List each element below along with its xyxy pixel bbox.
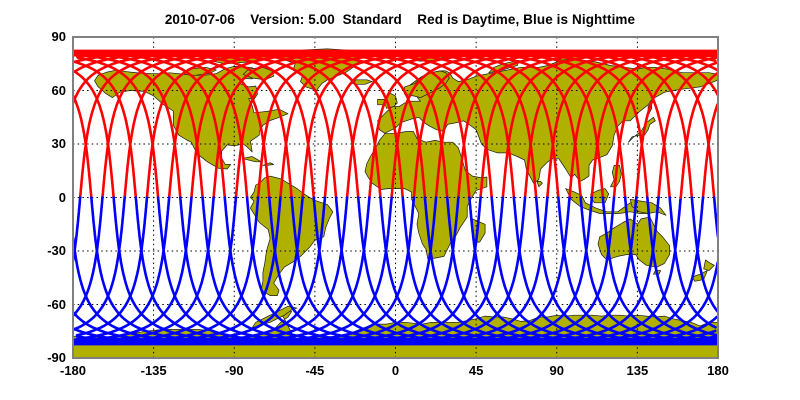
x-tick-label: -45 — [275, 363, 355, 378]
x-tick-label: -180 — [33, 363, 113, 378]
x-tick-label: 90 — [517, 363, 597, 378]
y-tick-label: -30 — [20, 243, 66, 258]
x-tick-label: -90 — [194, 363, 274, 378]
y-tick-label: -60 — [20, 297, 66, 312]
ground-track-plot — [0, 0, 800, 400]
x-tick-label: 180 — [678, 363, 758, 378]
y-tick-label: 90 — [20, 29, 66, 44]
y-tick-label: 30 — [20, 136, 66, 151]
x-tick-label: -135 — [114, 363, 194, 378]
x-tick-label: 0 — [356, 363, 436, 378]
x-tick-label: 45 — [436, 363, 516, 378]
x-tick-label: 135 — [597, 363, 677, 378]
y-tick-label: 0 — [20, 190, 66, 205]
y-tick-label: 60 — [20, 83, 66, 98]
ground-track-figure: 2010-07-06 Version: 5.00 Standard Red is… — [0, 0, 800, 400]
